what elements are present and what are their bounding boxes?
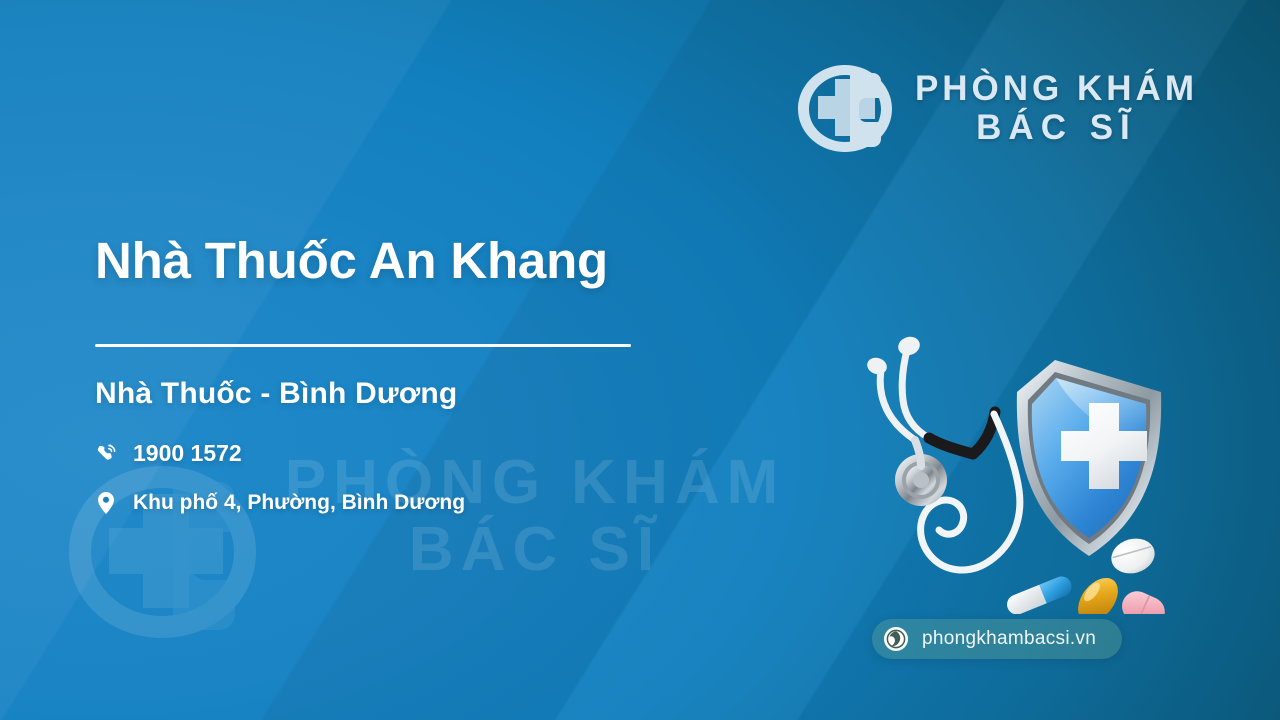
medical-cross-heart-logo-icon [791, 58, 899, 158]
location-pin-icon [95, 491, 117, 515]
banner-root: PHÒNG KHÁM BÁC SĨ PHÒNG KHÁM BÁC SĨ Nhà … [0, 0, 1280, 720]
brand-logo-block: PHÒNG KHÁM BÁC SĨ [791, 58, 1198, 158]
shield-with-cross-icon [1017, 360, 1161, 556]
phone-call-icon [95, 443, 117, 465]
pill-blue-white-capsule [1004, 573, 1075, 614]
subtitle: Nhà Thuốc - Bình Dương [95, 377, 715, 411]
address-row[interactable]: Khu phố 4, Phường, Bình Dương [95, 491, 715, 515]
website-url: phongkhambacsi.vn [922, 628, 1096, 650]
medical-shield-stethoscope-pills-illustration [843, 322, 1173, 614]
phone-row[interactable]: 1900 1572 [95, 440, 715, 467]
brand-line-2: BÁC SĨ [915, 108, 1198, 147]
watermark-line-2: BÁC SĨ [409, 515, 661, 584]
page-title: Nhà Thuốc An Khang [95, 232, 715, 289]
divider [95, 344, 631, 347]
stethoscope-icon [865, 334, 1020, 570]
globe-icon [883, 626, 909, 652]
pill-round-white-tablet [1107, 534, 1159, 579]
website-badge[interactable]: phongkhambacsi.vn [872, 619, 1122, 659]
address-text: Khu phố 4, Phường, Bình Dương [133, 491, 465, 515]
pill-gold-softgel-capsule [1070, 570, 1126, 614]
brand-line-1: PHÒNG KHÁM [915, 69, 1198, 108]
phone-number: 1900 1572 [133, 440, 242, 467]
info-panel: Nhà Thuốc An Khang Nhà Thuốc - Bình Dươn… [95, 232, 715, 515]
brand-text: PHÒNG KHÁM BÁC SĨ [915, 69, 1198, 147]
pill-pink-tablet-capsule [1117, 586, 1169, 614]
